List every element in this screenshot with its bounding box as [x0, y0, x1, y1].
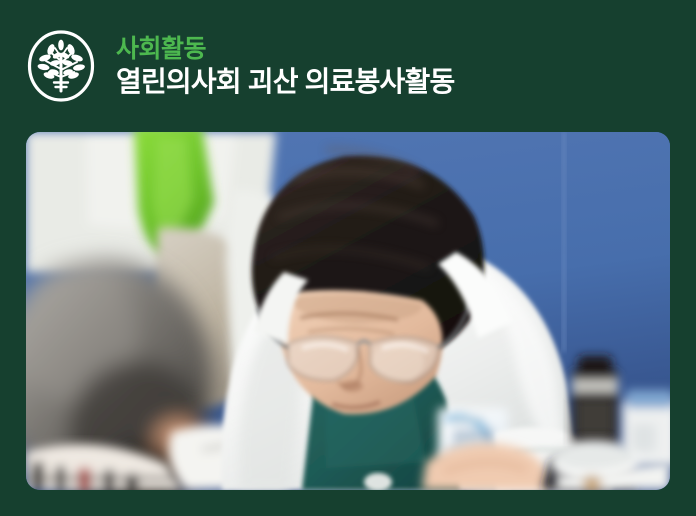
medical-volunteer-photo: 김민철: [26, 132, 670, 490]
page-title: 열린의사회 괴산 의료봉사활동: [116, 66, 454, 97]
tree-in-circle-logo-icon: [24, 29, 98, 103]
header-text-block: 사회활동 열린의사회 괴산 의료봉사활동: [116, 34, 454, 97]
social-activity-card: 사회활동 열린의사회 괴산 의료봉사활동: [0, 0, 696, 516]
card-header: 사회활동 열린의사회 괴산 의료봉사활동: [0, 0, 696, 132]
category-eyebrow: 사회활동: [116, 36, 454, 63]
